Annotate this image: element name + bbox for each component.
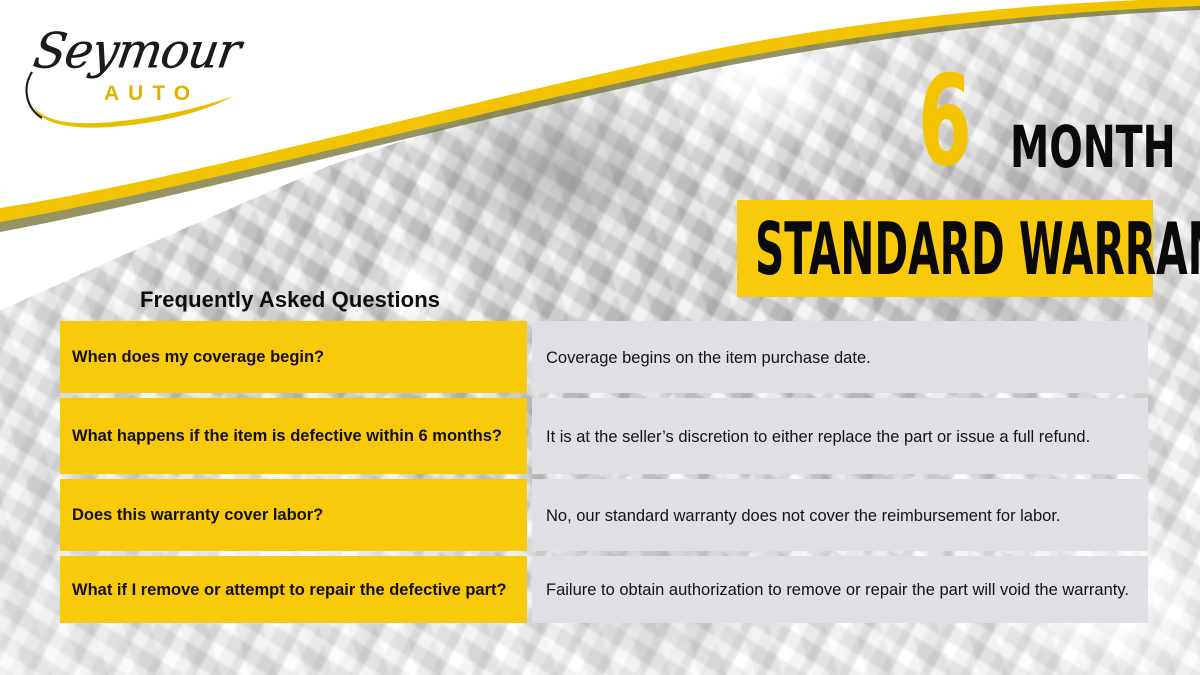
faq-answer-cell: It is at the seller’s discretion to eith… [532,398,1148,474]
faq-answer-text: It is at the seller’s discretion to eith… [546,426,1132,449]
standard-warranty-banner-text: STANDARD WARRANTY [755,213,1200,285]
table-row: Does this warranty cover labor? No, our … [60,479,1148,551]
faq-question-cell: When does my coverage begin? [60,321,527,393]
warranty-duration-unit: MONTH [1010,118,1176,176]
faq-answer-cell: Failure to obtain authorization to remov… [532,556,1148,623]
faq-section-title: Frequently Asked Questions [140,287,440,313]
standard-warranty-banner: STANDARD WARRANTY [737,200,1153,297]
logo-auto-wordmark: AUTO [104,82,199,106]
faq-answer-text: Coverage begins on the item purchase dat… [546,347,1132,370]
table-row: When does my coverage begin? Coverage be… [60,321,1148,393]
faq-question-text: Does this warranty cover labor? [72,505,323,527]
warranty-duration-number: 6 [918,72,971,172]
table-row: What happens if the item is defective wi… [60,398,1148,474]
faq-question-text: What happens if the item is defective wi… [72,426,502,448]
faq-question-cell: What if I remove or attempt to repair th… [60,556,527,623]
faq-question-text: What if I remove or attempt to repair th… [72,580,507,602]
faq-question-text: When does my coverage begin? [72,347,324,369]
faq-question-cell: What happens if the item is defective wi… [60,398,527,474]
warranty-slide: Seymour AUTO 6 MONTH STANDARD WARRANTY F… [0,0,1200,675]
table-row: What if I remove or attempt to repair th… [60,556,1148,623]
seymour-auto-logo[interactable]: Seymour AUTO [20,22,250,132]
faq-answer-text: No, our standard warranty does not cover… [546,505,1132,528]
faq-answer-text: Failure to obtain authorization to remov… [546,579,1132,602]
faq-question-cell: Does this warranty cover labor? [60,479,527,551]
faq-answer-cell: No, our standard warranty does not cover… [532,479,1148,551]
faq-table: When does my coverage begin? Coverage be… [60,321,1148,623]
faq-answer-cell: Coverage begins on the item purchase dat… [532,321,1148,393]
